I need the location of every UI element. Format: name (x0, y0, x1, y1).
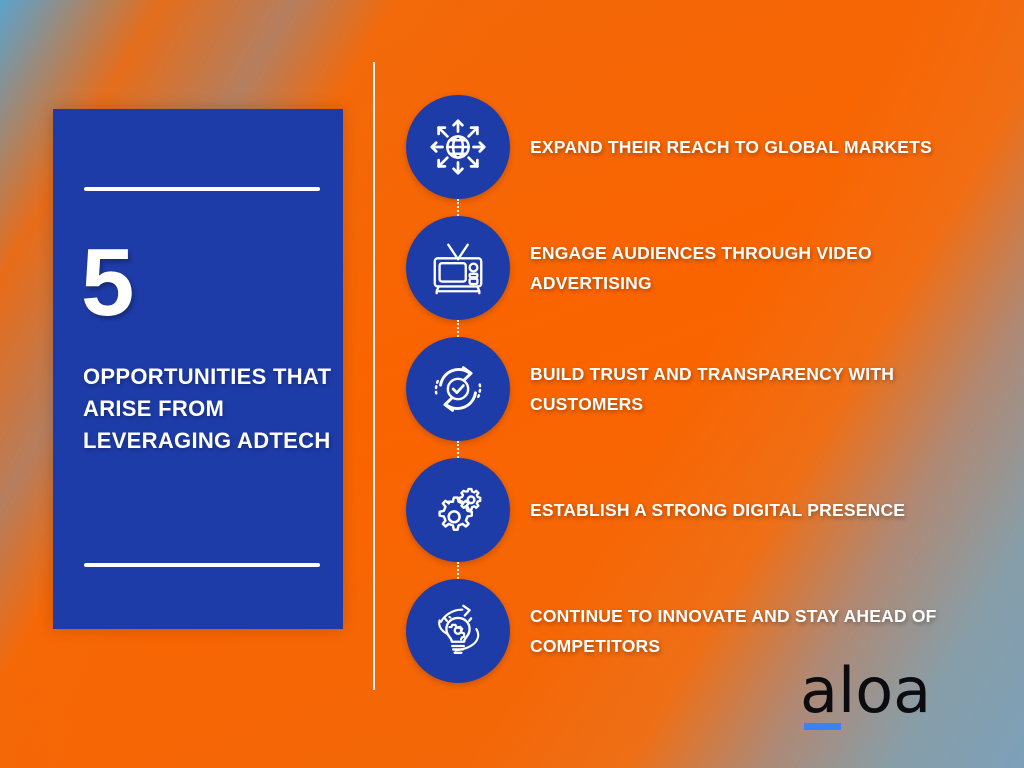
icon-badge (406, 458, 510, 562)
title-card: 5 OPPORTUNITIES THAT ARISE FROM LEVERAGI… (53, 109, 343, 629)
lightbulb-gear-arrow-icon (427, 600, 489, 662)
timeline-connector (457, 320, 461, 337)
globe-arrows-icon (427, 116, 489, 178)
card-rule-top (84, 187, 320, 191)
list-item: BUILD TRUST AND TRANSPARENCY WITH CUSTOM… (406, 337, 1006, 441)
icon-badge (406, 579, 510, 683)
list-item: ESTABLISH A STRONG DIGITAL PRESENCE (406, 458, 1006, 562)
icon-badge (406, 95, 510, 199)
television-icon (427, 237, 489, 299)
refresh-check-icon (427, 358, 489, 420)
list-item-label: EXPAND THEIR REACH TO GLOBAL MARKETS (530, 132, 970, 162)
gears-icon (427, 479, 489, 541)
icon-badge (406, 216, 510, 320)
vertical-divider (373, 62, 375, 690)
logo-wordmark: aloa (800, 660, 931, 722)
list-item: ENGAGE AUDIENCES THROUGH VIDEO ADVERTISI… (406, 216, 1006, 320)
infographic-poster: 5 OPPORTUNITIES THAT ARISE FROM LEVERAGI… (0, 0, 1024, 768)
timeline-connector (457, 562, 461, 579)
list-item-label: ENGAGE AUDIENCES THROUGH VIDEO ADVERTISI… (530, 238, 970, 298)
icon-badge (406, 337, 510, 441)
timeline-connector (457, 199, 461, 216)
list-item-label: BUILD TRUST AND TRANSPARENCY WITH CUSTOM… (530, 359, 970, 419)
aloa-logo: aloa (800, 660, 931, 722)
list-item-label: CONTINUE TO INNOVATE AND STAY AHEAD OF C… (530, 601, 970, 661)
page-title: OPPORTUNITIES THAT ARISE FROM LEVERAGING… (83, 361, 333, 457)
list-item: EXPAND THEIR REACH TO GLOBAL MARKETS (406, 95, 1006, 199)
timeline-connector (457, 441, 461, 458)
card-rule-bottom (84, 563, 320, 567)
logo-underline-accent (804, 723, 841, 730)
big-number: 5 (81, 235, 133, 331)
list-item-label: ESTABLISH A STRONG DIGITAL PRESENCE (530, 495, 970, 525)
